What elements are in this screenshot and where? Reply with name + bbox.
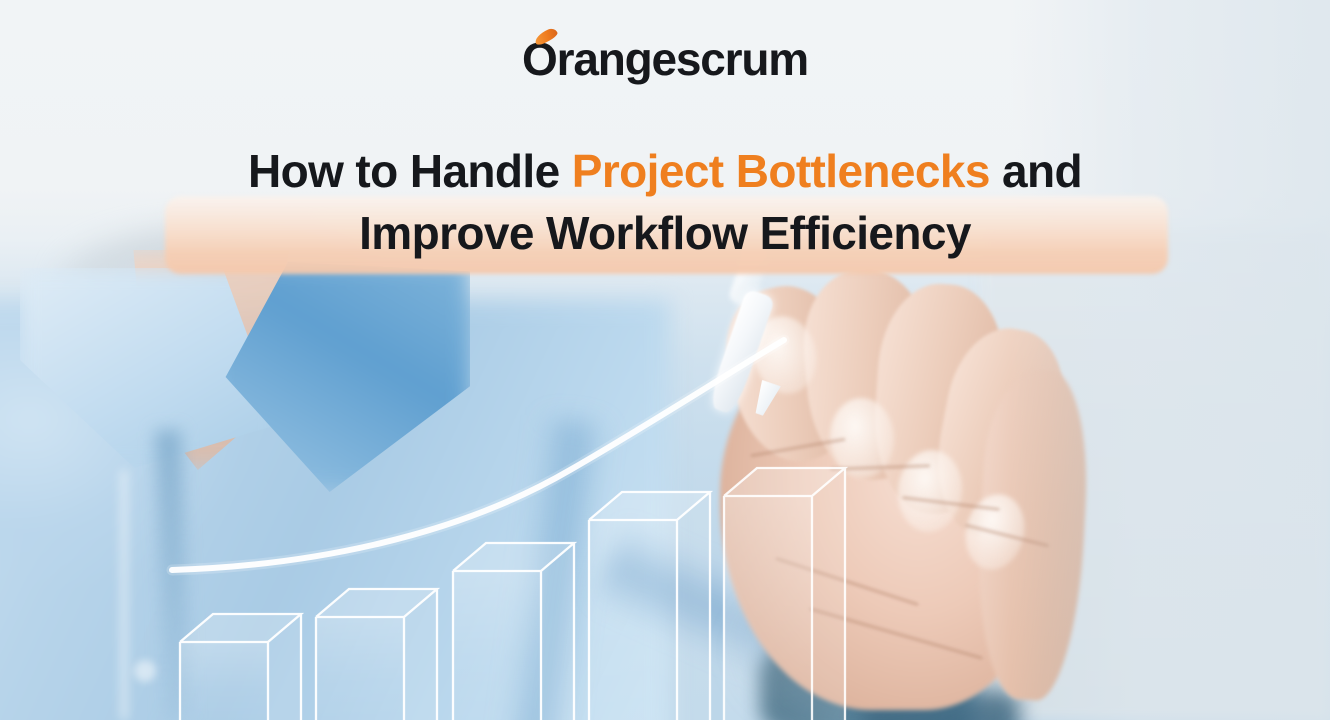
shirt-placket: [120, 470, 128, 720]
headline-accent: Project Bottlenecks: [572, 145, 990, 197]
headline-line-1: How to Handle Project Bottlenecks and: [0, 140, 1330, 202]
headline-line-2: Improve Workflow Efficiency: [0, 202, 1330, 264]
brand-logo[interactable]: Orangescrum: [0, 36, 1330, 82]
headline: How to Handle Project Bottlenecks and Im…: [0, 140, 1330, 264]
headline-line1-part2: and: [990, 145, 1082, 197]
right-vignette: [1010, 0, 1330, 720]
brand-name: Orangescrum: [522, 36, 808, 82]
marketing-banner: Orangescrum How to Handle Project Bottle…: [0, 0, 1330, 720]
background-photo: [0, 0, 1330, 720]
shirt-button: [134, 660, 156, 682]
headline-line1-part1: How to Handle: [248, 145, 572, 197]
